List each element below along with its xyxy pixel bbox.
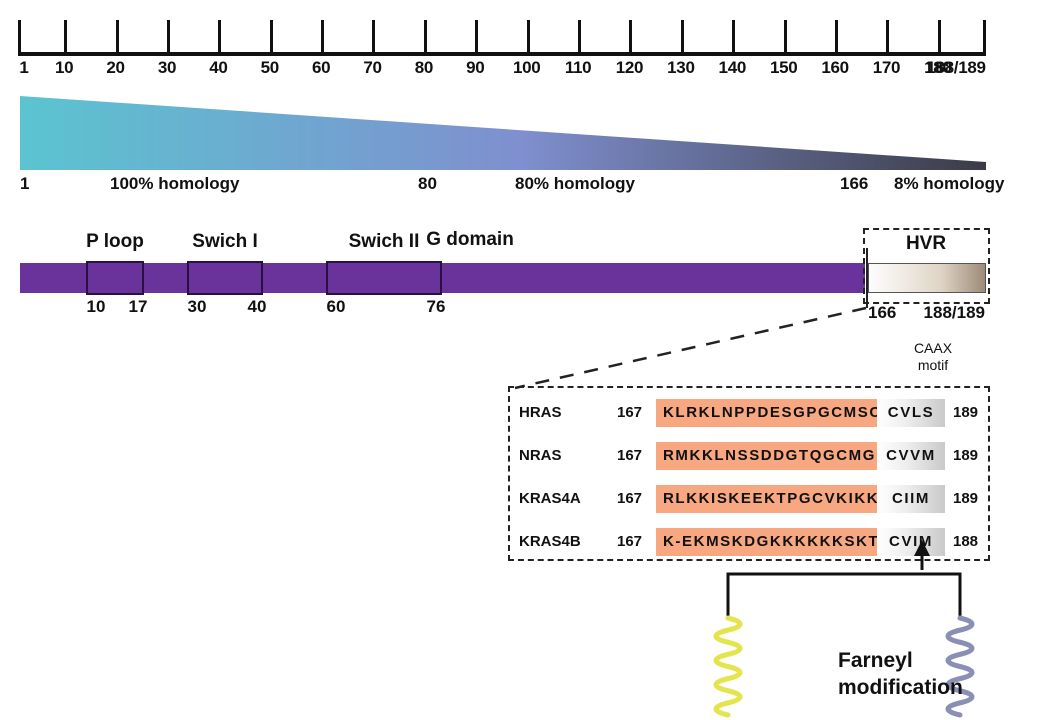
alignment-start-residue: 167 xyxy=(617,441,651,471)
farnesyl-chain-left-icon xyxy=(716,618,740,715)
farnesyl-modification-graphic xyxy=(600,540,1041,720)
hvr-bar xyxy=(868,263,986,293)
ruler-tick xyxy=(321,20,324,54)
ruler-tick xyxy=(527,20,530,54)
ruler-tick xyxy=(983,20,986,54)
alignment-sequence: KLRKLNPPDESGPGCMSCK xyxy=(656,399,878,427)
ruler-tick-label: 130 xyxy=(667,58,694,78)
alignment-start-residue: 167 xyxy=(617,398,651,428)
alignment-caax-motif: CVVM xyxy=(877,442,945,470)
alignment-row-name: KRAS4A xyxy=(519,484,611,514)
homology-label: 8% homology xyxy=(894,174,1005,194)
farnesyl-modification-label: Farneyl modification xyxy=(838,647,963,701)
ruler-tick-label: 150 xyxy=(770,58,797,78)
alignment-start-residue: 167 xyxy=(617,484,651,514)
ruler-tick xyxy=(784,20,787,54)
ruler-tick xyxy=(270,20,273,54)
homology-label: 80% homology xyxy=(515,174,635,194)
ruler-tick-label: 20 xyxy=(106,58,124,78)
ruler-tick-label: 140 xyxy=(719,58,746,78)
homology-label: 100% homology xyxy=(110,174,239,194)
homology-label: 166 xyxy=(840,174,868,194)
ruler-tick xyxy=(578,20,581,54)
caax-motif-label: CAAXmotif xyxy=(888,340,978,374)
ruler-tick xyxy=(167,20,170,54)
ruler-tick-label: 30 xyxy=(158,58,176,78)
ruler-tick-label: 1 xyxy=(19,58,28,78)
arrow-head-icon xyxy=(914,540,930,556)
connector-line xyxy=(515,308,866,388)
ruler-tick xyxy=(938,20,941,54)
domain-box xyxy=(187,261,263,295)
hvr-label: HVR xyxy=(906,233,946,255)
ruler-tick-label: 40 xyxy=(209,58,227,78)
ruler-tick-label: 70 xyxy=(363,58,381,78)
alignment-row-name: HRAS xyxy=(519,398,611,428)
ruler-tick xyxy=(629,20,632,54)
homology-label: 1 xyxy=(20,174,29,194)
alignment-sequence: RMKKLNSSDDGTQGCMGLP xyxy=(656,442,878,470)
ruler-tick xyxy=(116,20,119,54)
alignment-row-name: NRAS xyxy=(519,441,611,471)
ruler-tick-label: 10 xyxy=(55,58,73,78)
homology-label: 80 xyxy=(418,174,437,194)
caax-motif-line: motif xyxy=(888,357,978,374)
ruler-tick xyxy=(886,20,889,54)
bracket-right-arm xyxy=(922,574,960,618)
ruler-tick-label: 110 xyxy=(565,58,592,78)
homology-gradient-triangle xyxy=(20,96,986,170)
ruler-tick-label: 90 xyxy=(466,58,484,78)
domain-name-label: P loop xyxy=(86,231,144,253)
ruler-tick-label: 188/189 xyxy=(926,58,985,78)
ruler-tick xyxy=(424,20,427,54)
g-domain-label: G domain xyxy=(426,229,514,251)
alignment-row-name: KRAS4B xyxy=(519,527,611,557)
bracket-left-arm xyxy=(728,574,922,618)
alignment-caax-motif: CIIM xyxy=(877,485,945,513)
domain-box xyxy=(86,261,144,295)
ruler-tick xyxy=(64,20,67,54)
ruler-tick xyxy=(681,20,684,54)
ruler-tick xyxy=(732,20,735,54)
homology-triangle-shape xyxy=(20,96,986,170)
domain-name-label: Swich I xyxy=(192,231,257,253)
ras-protein-domain-diagram: 1102030405060708090100110120130140150160… xyxy=(0,0,1041,720)
ruler-tick-label: 60 xyxy=(312,58,330,78)
farnesyl-label-line2: modification xyxy=(838,674,963,701)
alignment-caax-motif: CVLS xyxy=(877,399,945,427)
ruler-tick-label: 160 xyxy=(821,58,848,78)
ruler-tick-label: 80 xyxy=(415,58,433,78)
alignment-end-residue: 189 xyxy=(953,485,993,513)
ruler-tick-label: 170 xyxy=(873,58,900,78)
ruler-tick-label: 120 xyxy=(616,58,643,78)
domain-box xyxy=(326,261,442,295)
g-domain-bar xyxy=(20,263,865,293)
alignment-end-residue: 189 xyxy=(953,442,993,470)
domain-name-label: Swich II xyxy=(349,231,420,253)
ruler-tick xyxy=(475,20,478,54)
alignment-sequence: RLKKISKEEKTPGCVKIKK xyxy=(656,485,878,513)
ruler-tick xyxy=(372,20,375,54)
alignment-end-residue: 189 xyxy=(953,399,993,427)
ruler-tick xyxy=(18,20,21,54)
ruler-baseline xyxy=(18,52,986,56)
ruler-tick xyxy=(218,20,221,54)
caax-motif-line: CAAX xyxy=(888,340,978,357)
ruler-tick-label: 50 xyxy=(261,58,279,78)
farnesyl-label-line1: Farneyl xyxy=(838,647,963,674)
ruler-tick-label: 100 xyxy=(513,58,540,78)
ruler-tick xyxy=(835,20,838,54)
